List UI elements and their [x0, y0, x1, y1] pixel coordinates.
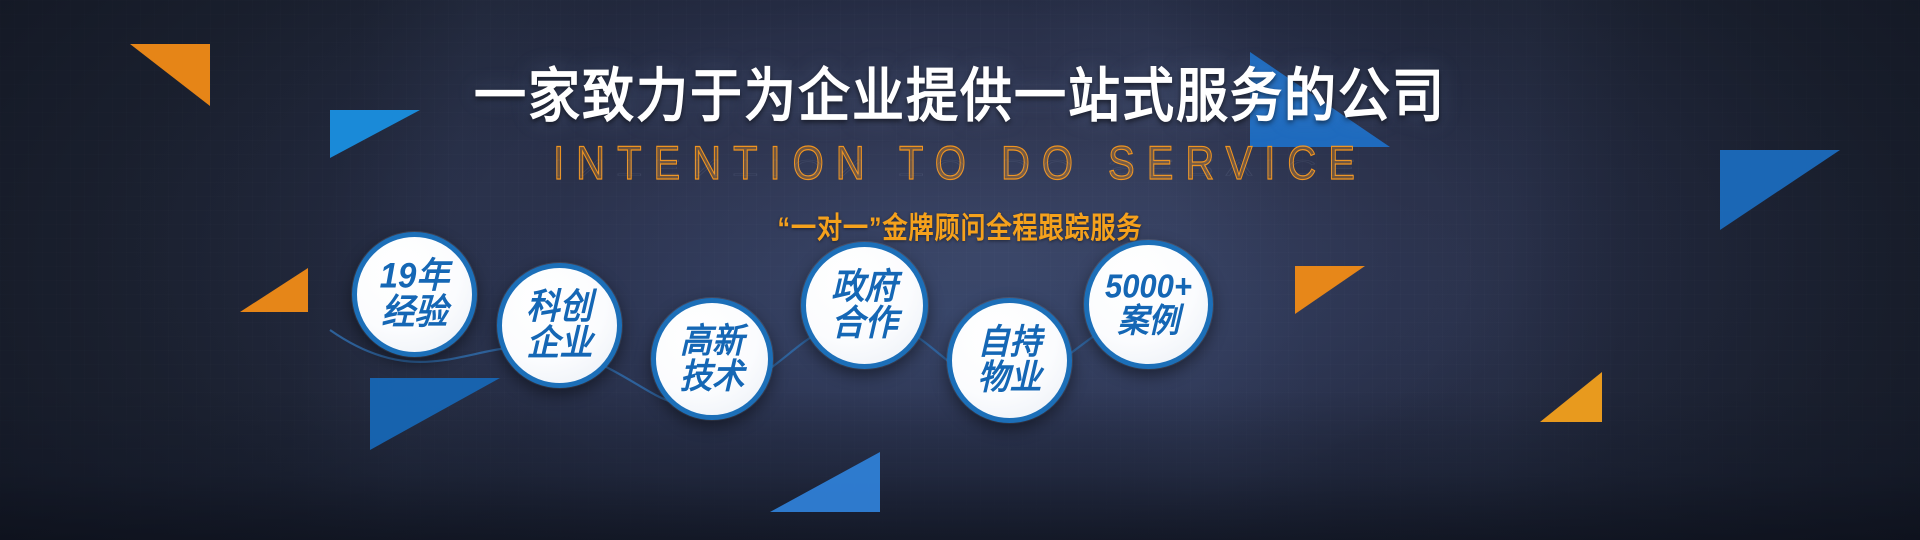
- feature-badge-label: 自持 物业: [977, 325, 1041, 397]
- promo-banner: 一家致力于为企业提供一站式服务的公司 INTENTION TO DO SERVI…: [0, 0, 1920, 540]
- page-title: 一家致力于为企业提供一站式服务的公司: [0, 68, 1920, 126]
- slogan-text: “一对一”金牌顾问全程跟踪服务: [0, 205, 1920, 247]
- feature-badge-property[interactable]: 自持 物业: [947, 298, 1072, 423]
- feature-badge-cases[interactable]: 5000+ 案例: [1084, 240, 1213, 369]
- triangle-blue-bottom-left: [370, 378, 500, 450]
- triangle-orange-left-mid: [240, 268, 308, 312]
- triangle-orange-right-lower: [1540, 372, 1602, 422]
- feature-badge-high-tech[interactable]: 高新 技术: [651, 298, 773, 420]
- feature-badge-label: 高新 技术: [680, 323, 744, 395]
- subtitle-en-wrapper: INTENTION TO DO SERVICE INTENTION TO DO …: [0, 142, 1920, 190]
- headline-block: 一家致力于为企业提供一站式服务的公司 INTENTION TO DO SERVI…: [0, 68, 1920, 244]
- feature-badge-label: 19年 经验: [380, 257, 450, 331]
- feature-badge-tech-startup[interactable]: 科创 企业: [497, 263, 622, 388]
- feature-badge-label: 5000+ 案例: [1105, 270, 1192, 340]
- triangle-blue-bottom-center: [770, 452, 880, 512]
- feature-badge-label: 政府 合作: [832, 268, 898, 342]
- triangle-orange-right-mid: [1295, 266, 1365, 314]
- feature-badge-experience[interactable]: 19年 经验: [352, 232, 477, 357]
- feature-badge-label: 科创 企业: [527, 288, 593, 362]
- subtitle-en: INTENTION TO DO SERVICE: [553, 138, 1367, 191]
- feature-badge-government[interactable]: 政府 合作: [801, 242, 928, 369]
